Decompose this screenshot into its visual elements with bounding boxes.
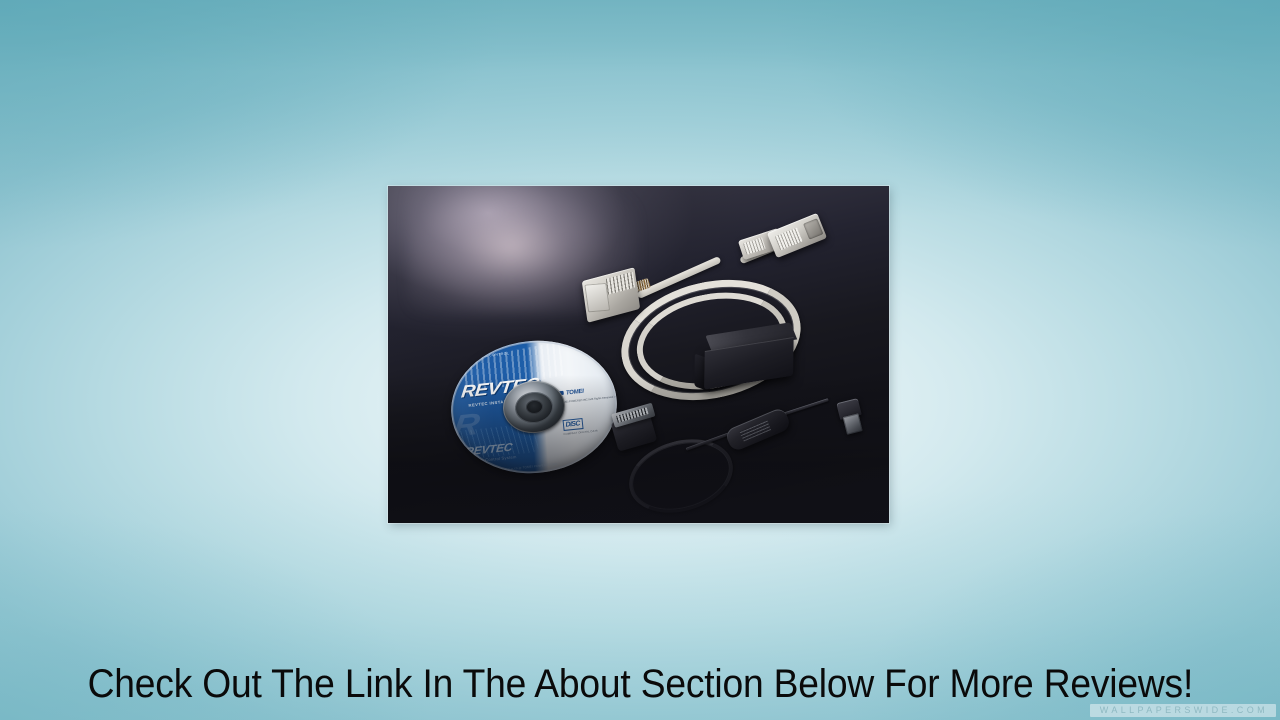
caption-bar: Check Out The Link In The About Section … <box>0 648 1280 720</box>
screenshot-root: R REVTEC ENGINE CONTROL REVTEC REVTEC IN… <box>0 0 1280 720</box>
ecu-connector-face <box>584 283 610 313</box>
watermark-text: WALLPAPERSWIDE.COM <box>1100 706 1268 715</box>
product-photo[interactable]: R REVTEC ENGINE CONTROL REVTEC REVTEC IN… <box>388 186 889 523</box>
watermark: WALLPAPERSWIDE.COM <box>1090 704 1276 717</box>
photo-floor-shadow <box>388 375 889 523</box>
caption-text: Check Out The Link In The About Section … <box>87 664 1193 704</box>
